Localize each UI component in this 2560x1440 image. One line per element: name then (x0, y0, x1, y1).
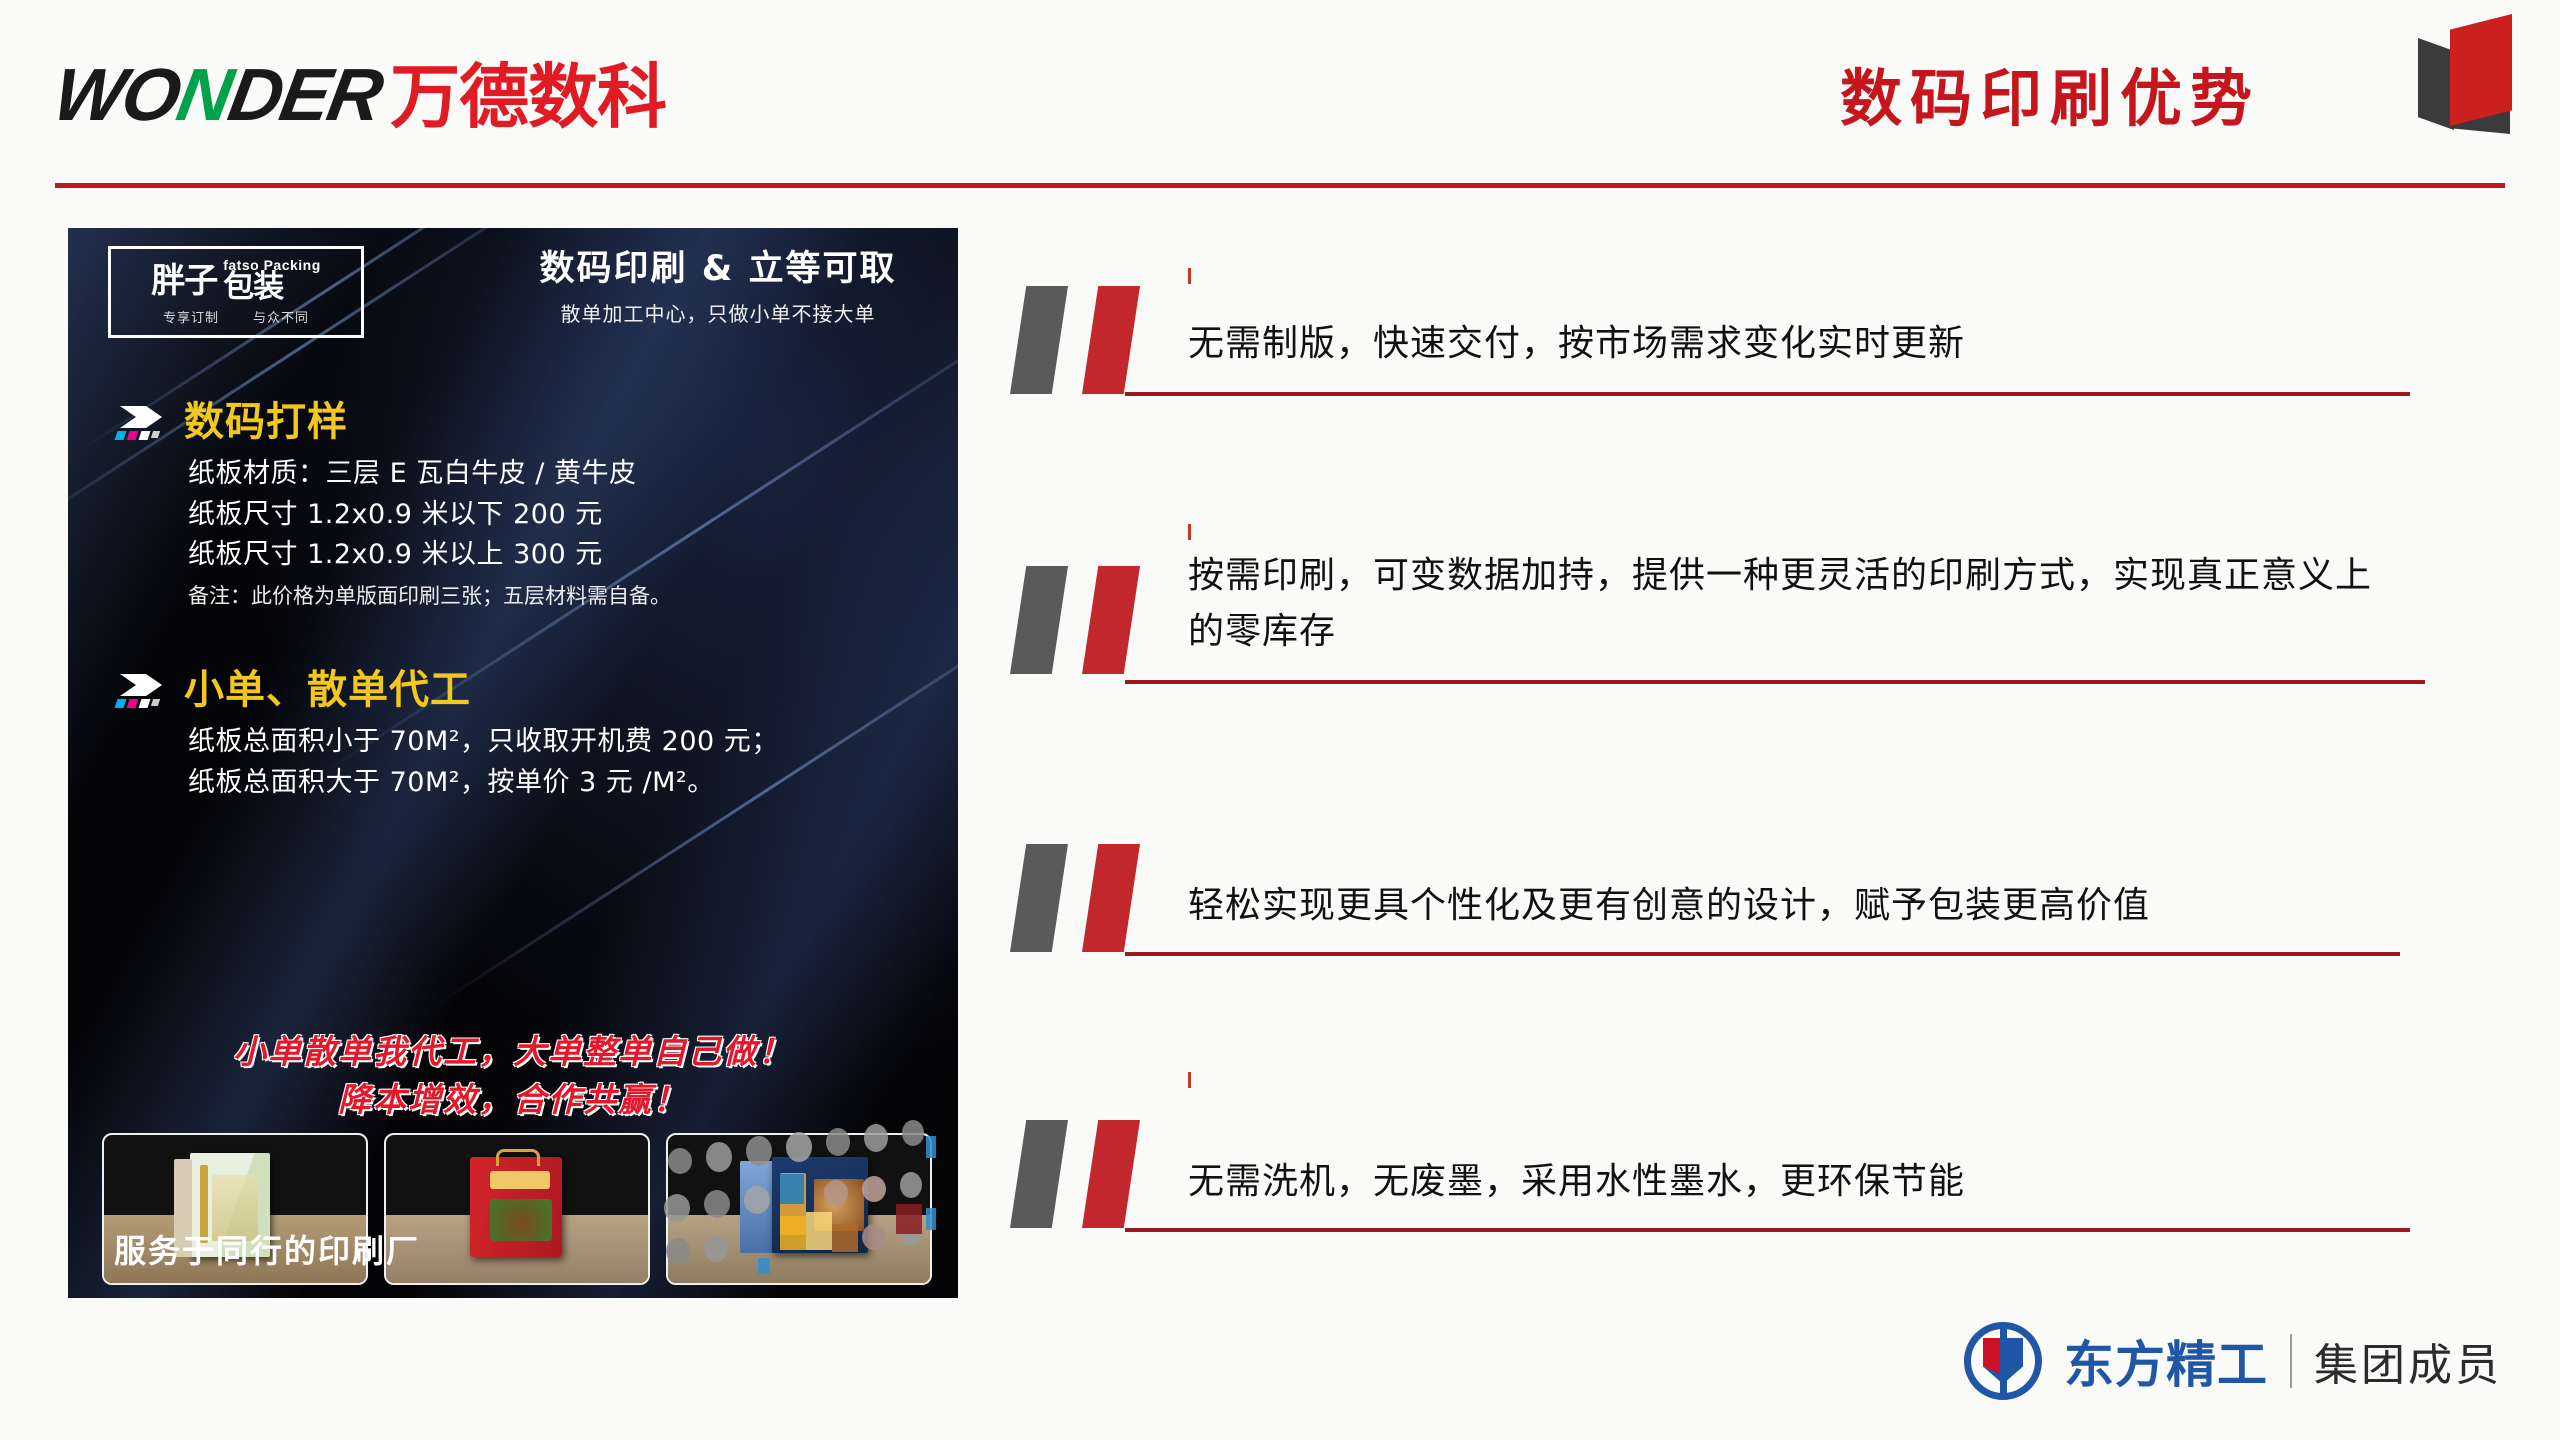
fatso-logo-taglines: 专享订制 与众不同 (163, 307, 309, 326)
brand-en-part1: WO (48, 53, 186, 136)
benefit-text-4: 无需洗机，无废墨，采用水性墨水，更环保节能 (1188, 1154, 2368, 1210)
chevron-arrow-icon (114, 400, 170, 444)
fatso-tagline-left: 专享订制 (163, 307, 219, 326)
brand-chinese-wordmark: 万德数科 (390, 62, 666, 132)
poster-section-2: 小单、散单代工 纸板总面积小于 70M²，只收取开机费 200 元； 纸板总面积… (114, 668, 934, 803)
dongfang-emblem-icon (1964, 1322, 2042, 1400)
benefit-tick-2 (1188, 524, 1191, 540)
poster-section-2-head: 小单、散单代工 (114, 668, 934, 712)
fatso-logo-cn2: 包装 (223, 272, 283, 303)
chevron-arrow-icon (114, 668, 170, 712)
benefit-underline-3 (1125, 952, 2400, 956)
group-member-label: 集团成员 (2314, 1329, 2502, 1393)
poster-footer-text: 服务于同行的印刷厂 (114, 1226, 420, 1272)
poster-header: 胖子 fatso Packing 包装 专享订制 与众不同 数码印刷 & 立等可… (68, 228, 958, 346)
header-divider (55, 183, 2505, 188)
poster-section-1-line-1: 纸板材质：三层 E 瓦白牛皮 / 黄牛皮 (188, 454, 934, 495)
fatso-logo-cn1: 胖子 (151, 264, 217, 298)
benefit-marker-icon (1010, 286, 1170, 394)
benefit-marker-icon (1010, 1120, 1170, 1228)
poster-dot-pattern (658, 1088, 958, 1298)
poster-section-2-line-2: 纸板总面积大于 70M²，按单价 3 元 /M²。 (188, 763, 934, 804)
poster-section-1-line-2: 纸板尺寸 1.2x0.9 米以下 200 元 (188, 495, 934, 536)
fatso-logo-row: 胖子 fatso Packing 包装 (151, 258, 321, 303)
poster-section-1-note: 备注：此价格为单版面印刷三张；五层材料需自备。 (188, 580, 934, 610)
benefit-underline-2 (1125, 680, 2425, 684)
benefit-marker-icon (1010, 566, 1170, 674)
poster-title-main: 数码印刷 & 立等可取 (498, 248, 938, 290)
benefit-tick-4 (1188, 1072, 1191, 1088)
benefit-text-3: 轻松实现更具个性化及更有创意的设计，赋予包装更高价值 (1188, 878, 2388, 934)
fatso-tagline-right: 与众不同 (253, 307, 309, 326)
brand-english-wordmark: WONDER (48, 58, 386, 132)
benefit-text-2: 按需印刷，可变数据加持，提供一种更灵活的印刷方式，实现真正意义上的零库存 (1188, 548, 2378, 660)
benefit-tick-1 (1188, 268, 1191, 284)
brand-en-part2: DER (223, 53, 388, 136)
fatso-logo-col: fatso Packing 包装 (223, 258, 321, 303)
benefit-text-1: 无需制版，快速交付，按市场需求变化实时更新 (1188, 316, 2368, 372)
poster-section-1-head: 数码打样 (114, 400, 934, 444)
poster-title-block: 数码印刷 & 立等可取 散单加工中心，只做小单不接大单 (498, 248, 938, 327)
benefit-underline-1 (1125, 392, 2410, 396)
poster-section-2-body: 纸板总面积小于 70M²，只收取开机费 200 元； 纸板总面积大于 70M²，… (188, 722, 934, 803)
product-photo (384, 1133, 650, 1285)
page-title: 数码印刷优势 (1840, 48, 2260, 138)
poster-title-sub: 散单加工中心，只做小单不接大单 (498, 298, 938, 327)
poster-slogan-line-1: 小单散单我代工，大单整单自己做！ (68, 1028, 958, 1076)
group-member-logo: 东方精工 集团成员 (1964, 1322, 2502, 1400)
fatso-packing-logo: 胖子 fatso Packing 包装 专享订制 与众不同 (108, 246, 364, 338)
wonder-logo: WONDER 万德数科 (55, 58, 666, 132)
slide-root: WONDER 万德数科 数码印刷优势 胖子 fatso Packing 包装 (0, 0, 2560, 1440)
poster-section-2-line-1: 纸板总面积小于 70M²，只收取开机费 200 元； (188, 722, 934, 763)
benefit-underline-4 (1125, 1228, 2410, 1232)
poster-section-1: 数码打样 纸板材质：三层 E 瓦白牛皮 / 黄牛皮 纸板尺寸 1.2x0.9 米… (114, 400, 934, 610)
benefit-marker-icon (1010, 844, 1170, 952)
poster-section-1-body: 纸板材质：三层 E 瓦白牛皮 / 黄牛皮 纸板尺寸 1.2x0.9 米以下 20… (188, 454, 934, 610)
promo-poster-image: 胖子 fatso Packing 包装 专享订制 与众不同 数码印刷 & 立等可… (68, 228, 958, 1298)
corner-decoration-icon (2410, 8, 2520, 136)
poster-section-1-line-3: 纸板尺寸 1.2x0.9 米以上 300 元 (188, 535, 934, 576)
poster-section-2-title: 小单、散单代工 (184, 670, 471, 710)
company-name: 东方精工 (2064, 1325, 2268, 1397)
corner-panel-red (2450, 14, 2512, 126)
footer-separator (2290, 1334, 2292, 1388)
poster-section-1-title: 数码打样 (184, 402, 348, 442)
